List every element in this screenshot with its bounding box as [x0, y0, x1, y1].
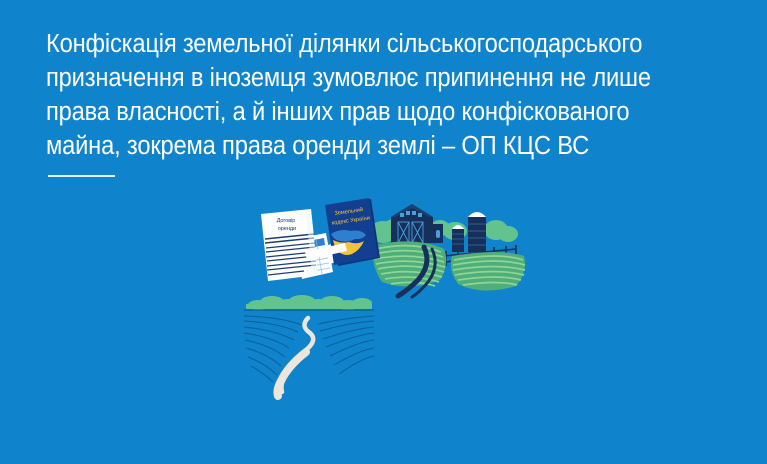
furrows-right: [318, 316, 374, 374]
silos-icon: [452, 212, 486, 252]
illustration: Договір оренди: [0, 0, 767, 464]
document-title-line-1: Договір: [277, 218, 296, 224]
document-title-line-2: оренди: [278, 226, 296, 232]
farm-scene-illustration: [369, 204, 525, 297]
article-banner: Конфіскація земельної ділянки сільського…: [0, 0, 767, 464]
furrows-left: [244, 316, 302, 382]
land-code-book-illustration: Земельний кодекс України: [305, 198, 380, 266]
farm-field-right: [451, 252, 525, 291]
treeline-icon: [246, 295, 372, 310]
outline-field-illustration: [244, 295, 374, 396]
winding-path-wide: [277, 352, 306, 396]
